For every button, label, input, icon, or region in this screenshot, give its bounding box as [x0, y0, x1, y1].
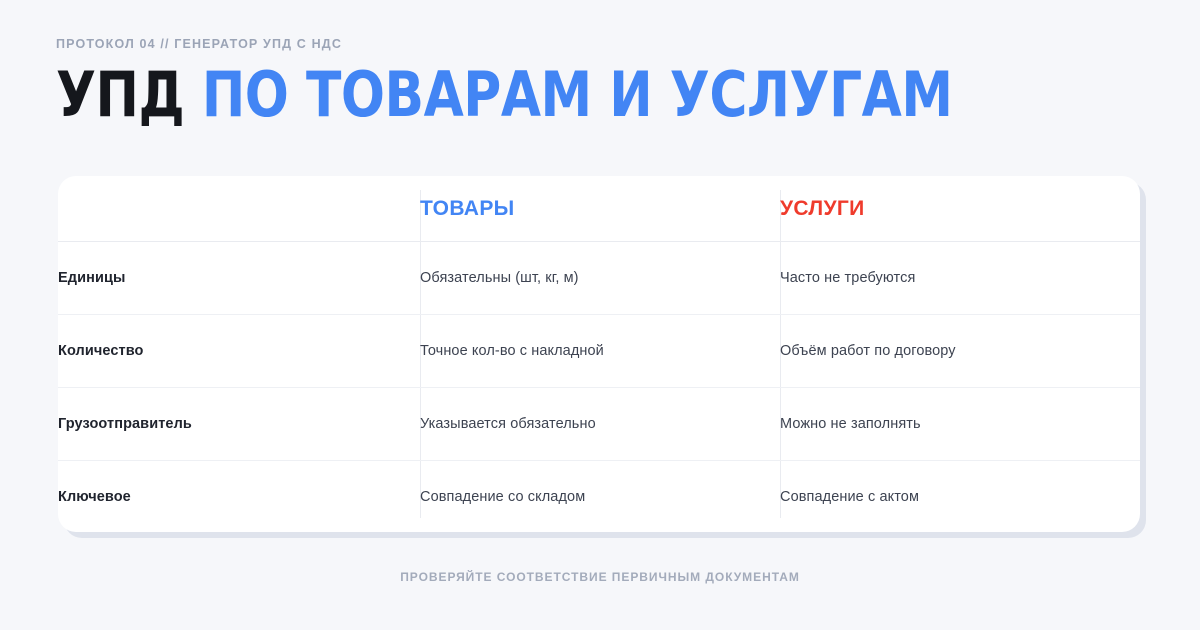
footer-note: ПРОВЕРЯЙТЕ СООТВЕТСТВИЕ ПЕРВИЧНЫМ ДОКУМЕ… [0, 568, 1200, 586]
row-value-goods: Обязательны (шт, кг, м) [420, 242, 780, 315]
page-header: ПРОТОКОЛ 04 // ГЕНЕРАТОР УПД С НДС УПД П… [56, 36, 1146, 170]
table-row: Грузоотправитель Указывается обязательно… [58, 388, 1140, 461]
row-value-services: Объём работ по договору [780, 315, 1140, 388]
table-row: Единицы Обязательны (шт, кг, м) Часто не… [58, 242, 1140, 315]
row-label: Ключевое [58, 461, 420, 533]
row-label: Грузоотправитель [58, 388, 420, 461]
column-header-services: УСЛУГИ [780, 176, 1140, 242]
row-value-goods: Совпадение со складом [420, 461, 780, 533]
row-value-goods: Указывается обязательно [420, 388, 780, 461]
page-title-primary: УПД [56, 58, 184, 131]
table-header-row: ТОВАРЫ УСЛУГИ [58, 176, 1140, 242]
column-header-label [58, 176, 420, 242]
row-value-goods: Точное кол-во с накладной [420, 315, 780, 388]
row-value-services: Часто не требуются [780, 242, 1140, 315]
comparison-table: ТОВАРЫ УСЛУГИ Единицы Обязательны (шт, к… [58, 176, 1140, 532]
table-row: Ключевое Совпадение со складом Совпадени… [58, 461, 1140, 533]
row-label: Единицы [58, 242, 420, 315]
row-value-services: Совпадение с актом [780, 461, 1140, 533]
page-title: УПД ПО ТОВАРАМ И УСЛУГАМ [56, 62, 1070, 128]
eyebrow-label: ПРОТОКОЛ 04 // ГЕНЕРАТОР УПД С НДС [56, 36, 1146, 52]
table-row: Количество Точное кол-во с накладной Объ… [58, 315, 1140, 388]
comparison-card-wrapper: ТОВАРЫ УСЛУГИ Единицы Обязательны (шт, к… [58, 176, 1140, 532]
column-header-goods: ТОВАРЫ [420, 176, 780, 242]
table-body: Единицы Обязательны (шт, кг, м) Часто не… [58, 242, 1140, 533]
page-title-accent: ПО ТОВАРАМ И УСЛУГАМ [202, 58, 953, 131]
row-label: Количество [58, 315, 420, 388]
comparison-card: ТОВАРЫ УСЛУГИ Единицы Обязательны (шт, к… [58, 176, 1140, 532]
table-head: ТОВАРЫ УСЛУГИ [58, 176, 1140, 242]
row-value-services: Можно не заполнять [780, 388, 1140, 461]
